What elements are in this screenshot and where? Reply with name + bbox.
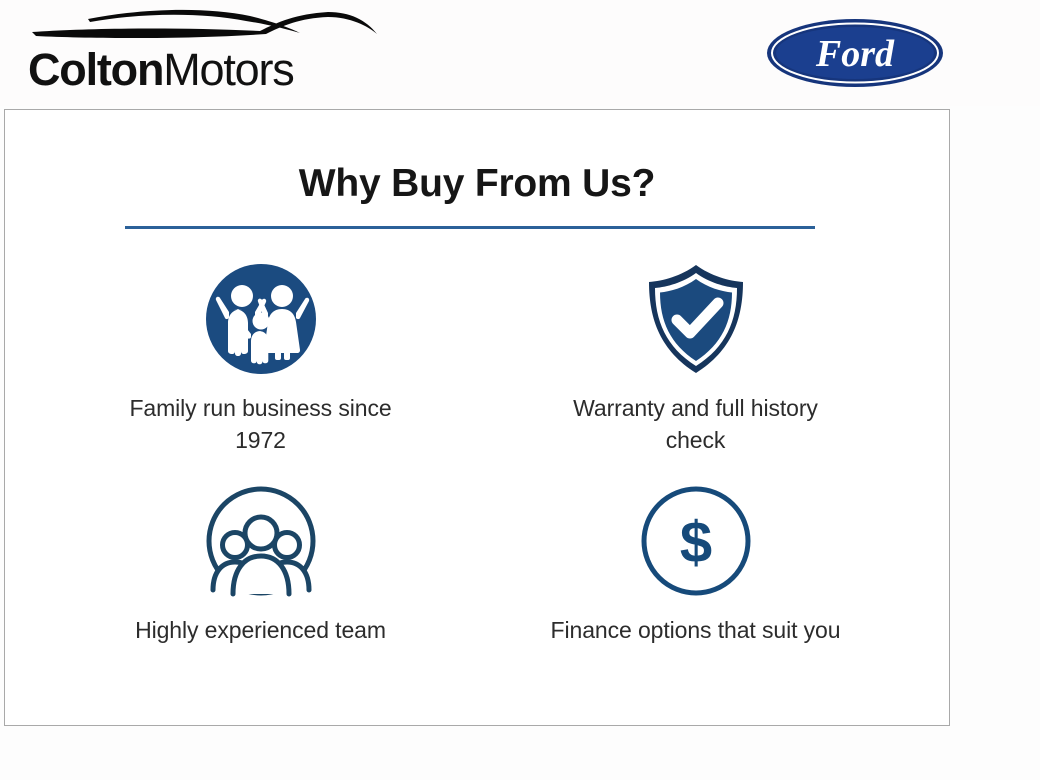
feature-item-warranty[interactable]: Warranty and full history check: [478, 260, 913, 482]
team-people-icon: [202, 482, 320, 600]
feature-item-team[interactable]: Highly experienced team: [43, 482, 478, 704]
ford-oval-logo[interactable]: Ford: [766, 18, 944, 88]
feature-label-family: Family run business since 1972: [111, 392, 411, 456]
feature-label-team: Highly experienced team: [111, 614, 411, 646]
dollar-sign-glyph: $: [679, 510, 711, 575]
page-title: Why Buy From Us?: [5, 162, 949, 206]
why-buy-panel: Why Buy From Us?: [4, 109, 950, 726]
feature-grid: Family run business since 1972 Warranty …: [43, 260, 913, 704]
feature-label-warranty: Warranty and full history check: [546, 392, 846, 456]
page-header: ColtonMotors Ford: [0, 0, 1040, 106]
brand-name-light: Motors: [163, 44, 293, 95]
brand-name-bold: Colton: [28, 44, 163, 95]
colton-motors-logo[interactable]: ColtonMotors: [28, 6, 388, 102]
feature-label-finance: Finance options that suit you: [546, 614, 846, 646]
feature-item-finance[interactable]: $ Finance options that suit you: [478, 482, 913, 704]
feature-item-family[interactable]: Family run business since 1972: [43, 260, 478, 482]
brand-wordmark: ColtonMotors: [28, 42, 294, 98]
dollar-circle-icon: $: [637, 482, 755, 600]
shield-check-icon: [637, 260, 755, 378]
ford-wordmark: Ford: [815, 33, 895, 75]
title-divider: [125, 226, 815, 229]
family-icon: [202, 260, 320, 378]
